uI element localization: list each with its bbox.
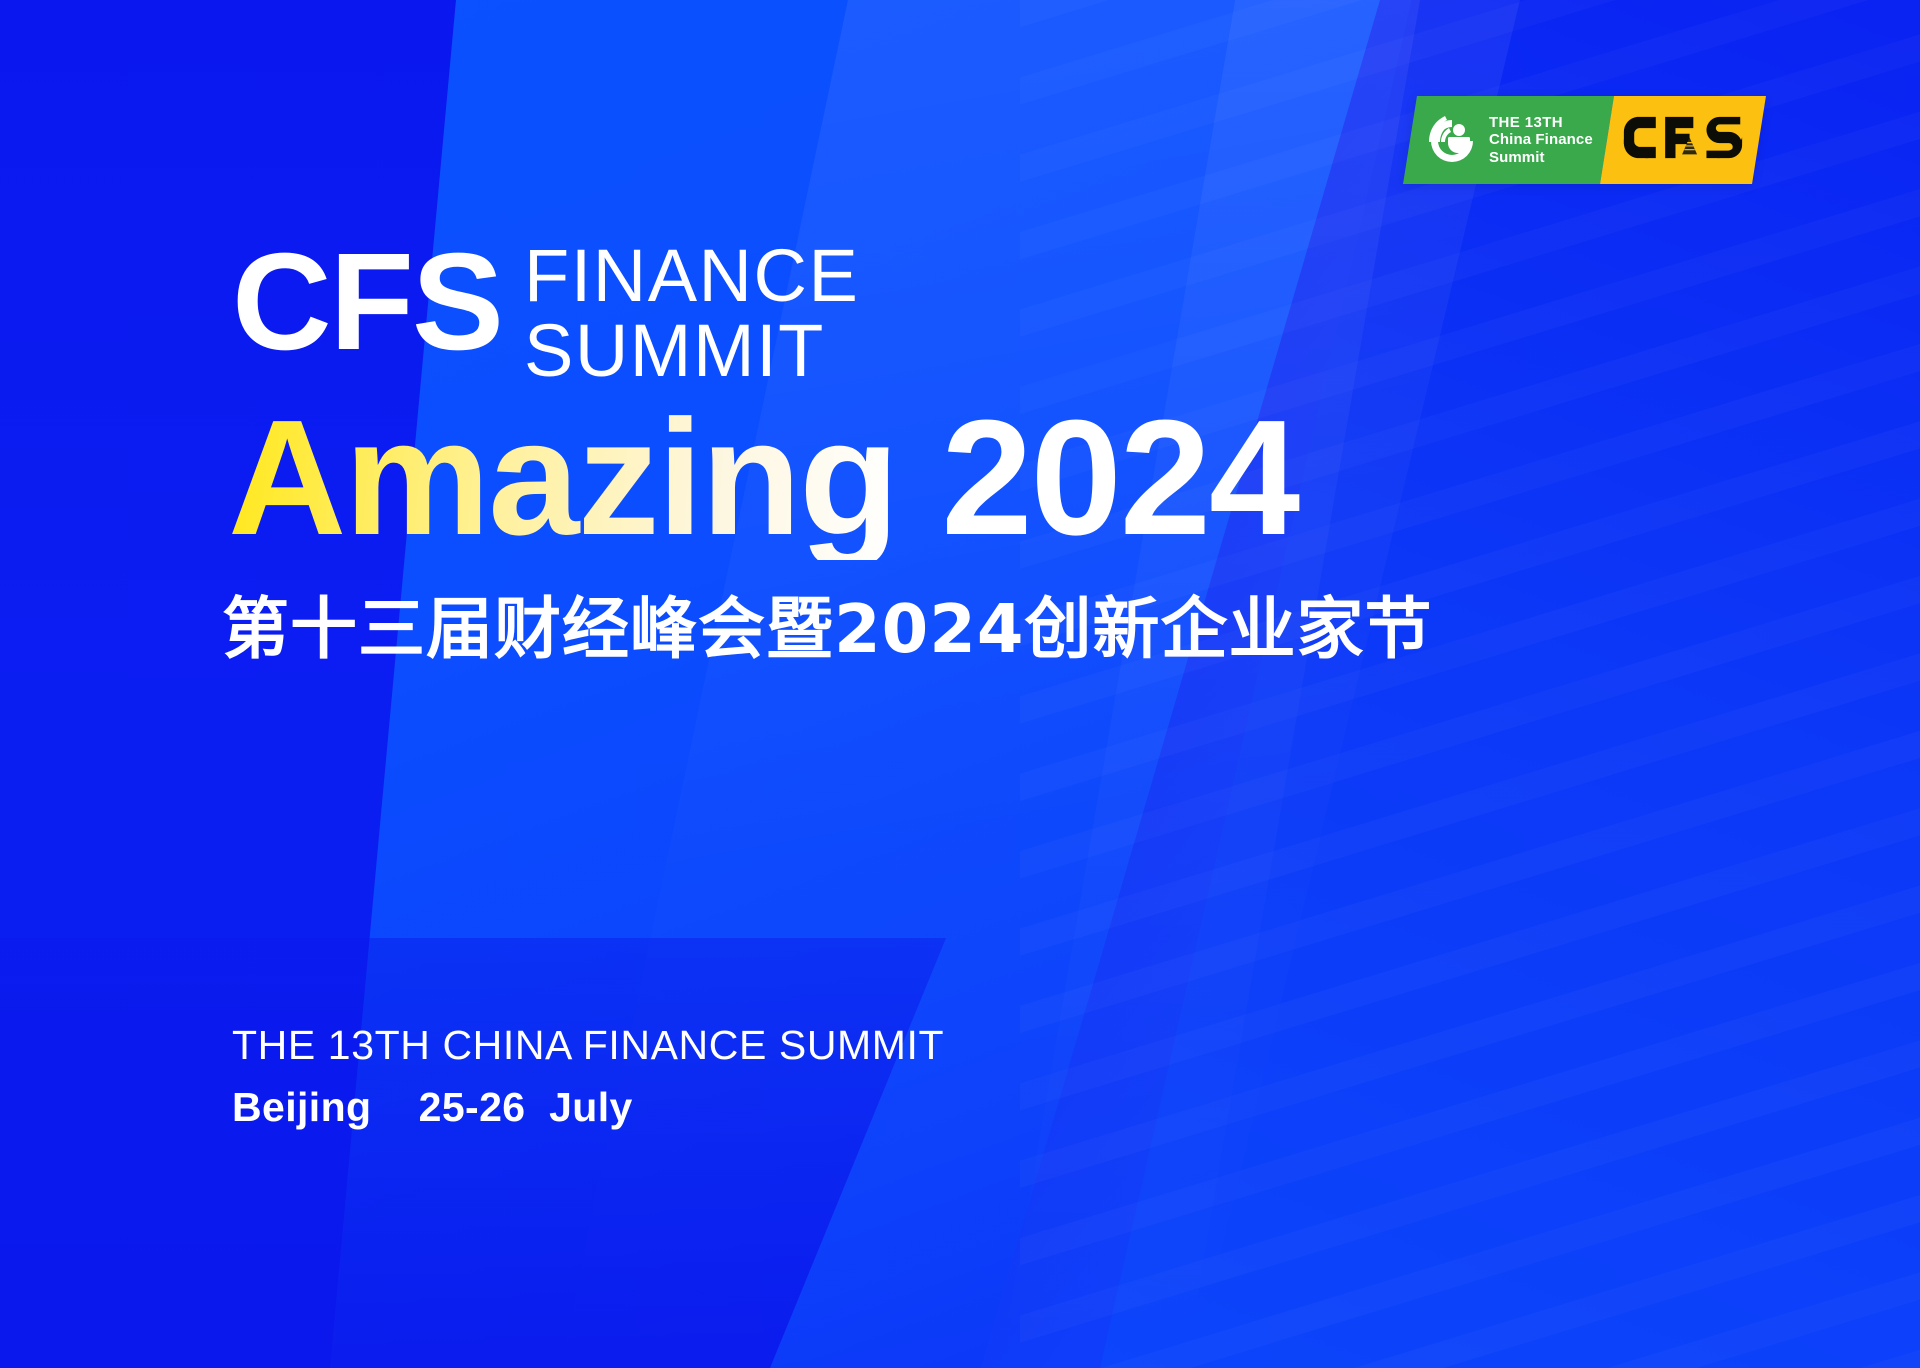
headline-line-finance: FINANCE bbox=[524, 239, 859, 314]
footer-english-title: THE 13TH CHINA FINANCE SUMMIT bbox=[232, 1018, 944, 1072]
logo-text-block: THE 13TH China Finance Summit bbox=[1489, 114, 1593, 166]
tagline-row: Amazing 2024 bbox=[228, 396, 1298, 560]
logo-green-panel: THE 13TH China Finance Summit bbox=[1403, 96, 1614, 184]
logo-line-2: China Finance bbox=[1489, 131, 1593, 148]
headline-subwords: FINANCE SUMMIT bbox=[524, 239, 859, 388]
background-sheen-stripes bbox=[1020, 0, 1920, 1368]
footer-block: THE 13TH CHINA FINANCE SUMMIT Beijing 25… bbox=[232, 1018, 944, 1131]
cfs-wordmark-icon bbox=[1622, 113, 1744, 167]
logo-line-1: THE 13TH bbox=[1489, 114, 1593, 131]
footer-location-date: Beijing 25-26 July bbox=[232, 1084, 944, 1131]
logo-line-3: Summit bbox=[1489, 149, 1593, 166]
headline-line-summit: SUMMIT bbox=[524, 314, 859, 389]
summit-logo-badge[interactable]: THE 13TH China Finance Summit bbox=[1403, 96, 1766, 184]
chinese-subtitle: 第十三届财经峰会暨2024创新企业家节 bbox=[222, 575, 1432, 672]
headline-brand: CFS bbox=[232, 233, 502, 371]
china-finance-summit-emblem-icon bbox=[1426, 112, 1480, 168]
headline-block: CFS FINANCE SUMMIT bbox=[232, 233, 859, 388]
tagline-year: 2024 bbox=[941, 396, 1298, 560]
poster-canvas: THE 13TH China Finance Summit bbox=[0, 0, 1920, 1368]
logo-yellow-panel bbox=[1600, 96, 1766, 184]
tagline-word: Amazing bbox=[228, 396, 897, 560]
